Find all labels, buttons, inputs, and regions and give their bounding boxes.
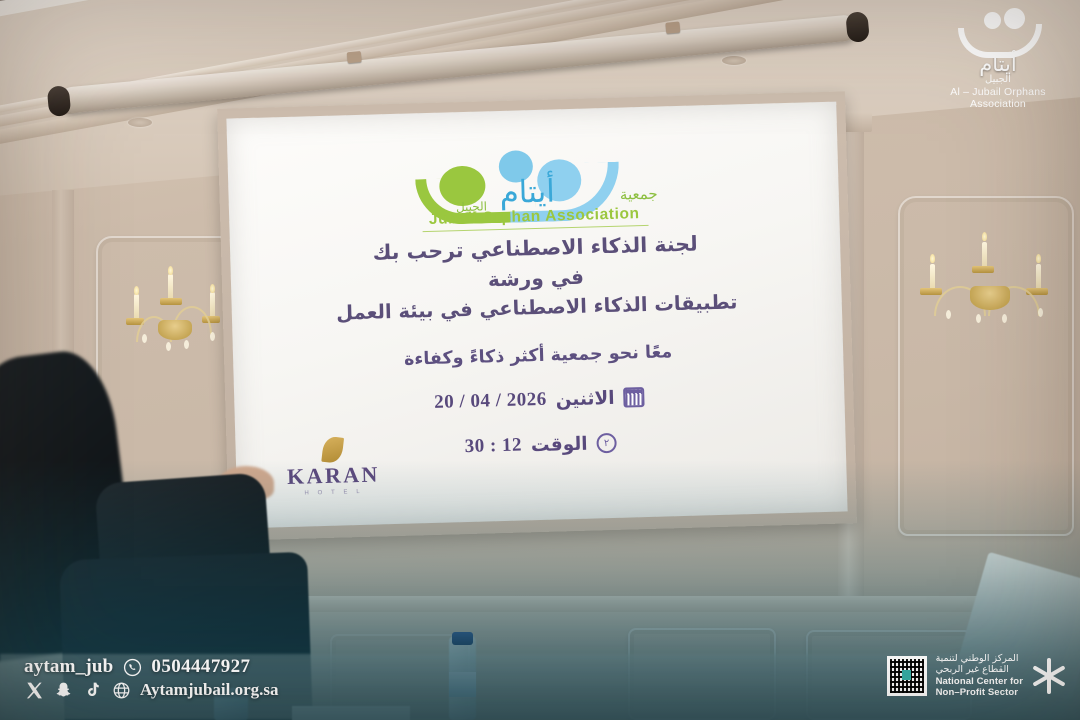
candle-cup (920, 288, 942, 295)
crystal-drop (166, 342, 171, 351)
roller-end-cap (47, 85, 72, 117)
crystal-wall-sconce-right (916, 238, 1066, 348)
slide-association-logo: أيتام جمعية الجبيل Jubail Orphan Associa… (402, 144, 664, 229)
crystal-drop (976, 314, 981, 323)
bottle-label (449, 672, 476, 697)
logo-arabic-main: أيتام (499, 173, 555, 211)
ceiling-downlight-icon (128, 118, 152, 127)
candle (134, 294, 139, 320)
projector-screen: أيتام جمعية الجبيل Jubail Orphan Associa… (226, 102, 847, 529)
x-twitter-icon[interactable] (24, 680, 44, 700)
bottle-cap-icon (452, 632, 473, 645)
social-overlay: aytam_jub 0504447927 (24, 656, 279, 700)
candle-cup (972, 266, 994, 273)
ncnp-badge: المركز الوطني لتنمية القطاع غير الربحي N… (887, 653, 1066, 698)
flame-icon (982, 232, 987, 241)
screenshot-root: أيتام جمعية الجبيل Jubail Orphan Associa… (0, 0, 1080, 720)
social-row-handle: aytam_jub 0504447927 (24, 656, 279, 678)
flame-icon (930, 254, 935, 263)
slide-time-label: الوقت (531, 433, 588, 456)
crystal-drop (1002, 314, 1007, 323)
slide-body: لجنة الذكاء الاصطناعي ترحب بك في ورشة تط… (230, 226, 846, 465)
clock-icon: ٢ (596, 433, 617, 454)
social-handle: aytam_jub (24, 656, 113, 678)
figure-head (1004, 8, 1025, 29)
ncnp-arabic-line-1: المركز الوطني لتنمية (936, 653, 1023, 664)
brand-watermark-top-right: أيتام الجبيل Al – Jubail Orphans Associa… (932, 10, 1064, 110)
logo-arabic-jamaiya: جمعية (620, 185, 658, 204)
figure-head (984, 12, 1001, 29)
slide-date-row: الاثنين 2026 / 04 / 20 (234, 381, 844, 420)
qr-code-icon[interactable] (887, 656, 927, 696)
ncnp-english-line-2: Non–Profit Sector (936, 687, 1023, 698)
sponsor-logo-karan: KARAN H O T E L (277, 435, 389, 497)
ncnp-text: المركز الوطني لتنمية القطاع غير الربحي N… (936, 653, 1023, 698)
sail-leaf-icon (321, 436, 344, 464)
brand-arabic-sub: الجبيل (932, 74, 1064, 85)
crystal-drop (946, 310, 951, 319)
candle (982, 242, 987, 268)
sconce-body (158, 320, 192, 340)
social-phone: 0504447927 (151, 656, 250, 678)
calendar-icon (623, 387, 645, 408)
social-row-icons: Aytamjubail.org.sa (24, 680, 279, 700)
slide-motto: معًا نحو جمعية أكثر ذكاءً وكفاءة (233, 338, 843, 375)
slide-time-value: 12 : 30 (464, 435, 522, 459)
candle (168, 274, 173, 300)
crystal-drop (184, 340, 189, 349)
candle (210, 292, 215, 318)
sponsor-subtitle: H O T E L (279, 488, 389, 497)
roller-end-cap (845, 11, 870, 43)
projected-slide: أيتام جمعية الجبيل Jubail Orphan Associa… (226, 102, 847, 529)
flame-icon (210, 284, 215, 293)
flame-icon (1036, 254, 1041, 263)
whatsapp-icon[interactable] (122, 657, 142, 677)
crystal-drop (1038, 308, 1043, 317)
snapchat-icon[interactable] (53, 680, 73, 700)
candle (1036, 264, 1041, 290)
roller-bracket (347, 51, 362, 63)
figure-arc (994, 24, 1042, 58)
ncnp-english-line-1: National Center for (936, 676, 1023, 687)
globe-icon[interactable] (111, 680, 131, 700)
candle (930, 264, 935, 290)
crystal-drop (142, 334, 147, 343)
crystal-drop (210, 332, 215, 341)
ncnp-arabic-line-2: القطاع غير الربحي (936, 664, 1023, 675)
roller-bracket (665, 21, 680, 33)
slide-date-value: 2026 / 04 / 20 (434, 389, 547, 414)
two-figures-icon (932, 10, 1064, 62)
slide-date-label: الاثنين (555, 388, 614, 411)
asterisk-star-icon (1032, 658, 1066, 694)
sconce-body (970, 286, 1010, 310)
social-website: Aytamjubail.org.sa (140, 680, 279, 700)
sponsor-name: KARAN (278, 463, 389, 488)
ceiling-downlight-icon (722, 56, 746, 65)
crystal-wall-sconce-left (122, 276, 232, 366)
table-item (292, 706, 410, 720)
flame-icon (168, 266, 173, 275)
brand-english-name: Al – Jubail Orphans Association (932, 86, 1064, 110)
tiktok-icon[interactable] (82, 680, 102, 700)
flame-icon (134, 286, 139, 295)
candle-cup (160, 298, 182, 305)
